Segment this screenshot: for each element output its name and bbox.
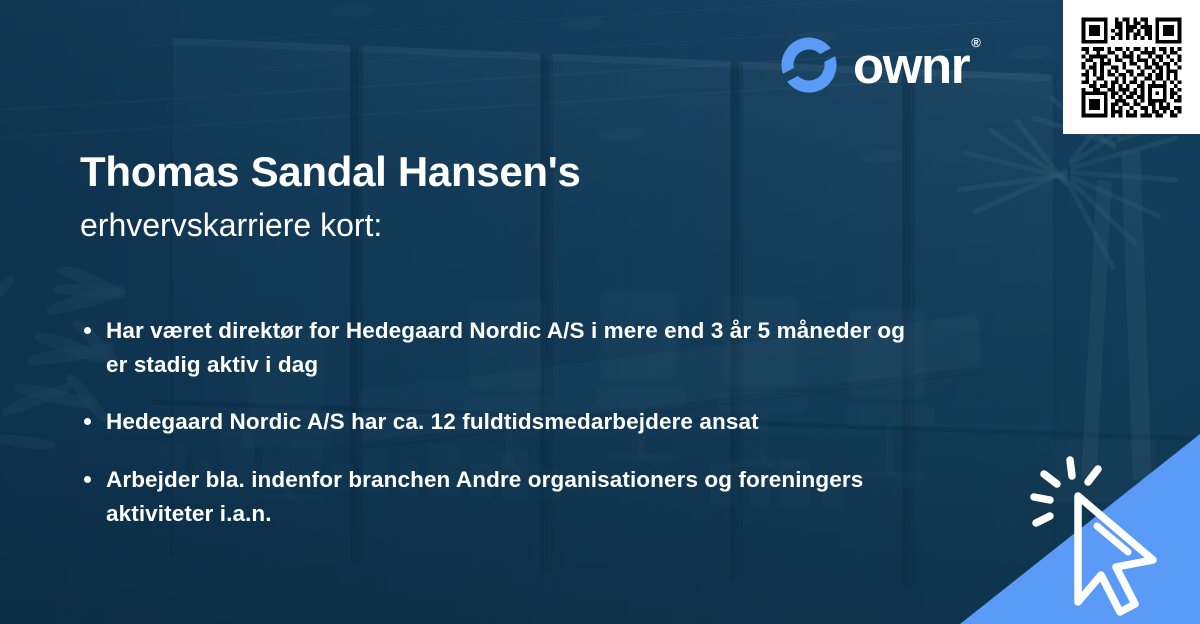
list-item: Hedegaard Nordic A/S har ca. 12 fuldtids…	[84, 405, 914, 439]
ownr-wordmark: ownr®	[853, 40, 979, 91]
career-card: ownr®	[0, 0, 1200, 624]
list-item: Arbejder bla. indenfor branchen Andre or…	[84, 463, 914, 531]
list-item: Har været direktør for Hedegaard Nordic …	[84, 314, 914, 382]
career-facts-list: Har været direktør for Hedegaard Nordic …	[84, 314, 914, 531]
click-cursor-corner	[960, 434, 1200, 624]
ownr-cycle-mark-icon	[779, 35, 839, 95]
ownr-wordmark-text: ownr	[853, 37, 969, 94]
qr-code[interactable]	[1063, 0, 1200, 134]
headline-block: Thomas Sandal Hansen's erhvervskarriere …	[80, 148, 960, 244]
ownr-logo[interactable]: ownr®	[779, 35, 979, 95]
page-subtitle: erhvervskarriere kort:	[80, 206, 960, 244]
registered-trademark-symbol: ®	[971, 35, 981, 50]
page-title: Thomas Sandal Hansen's	[80, 148, 960, 196]
